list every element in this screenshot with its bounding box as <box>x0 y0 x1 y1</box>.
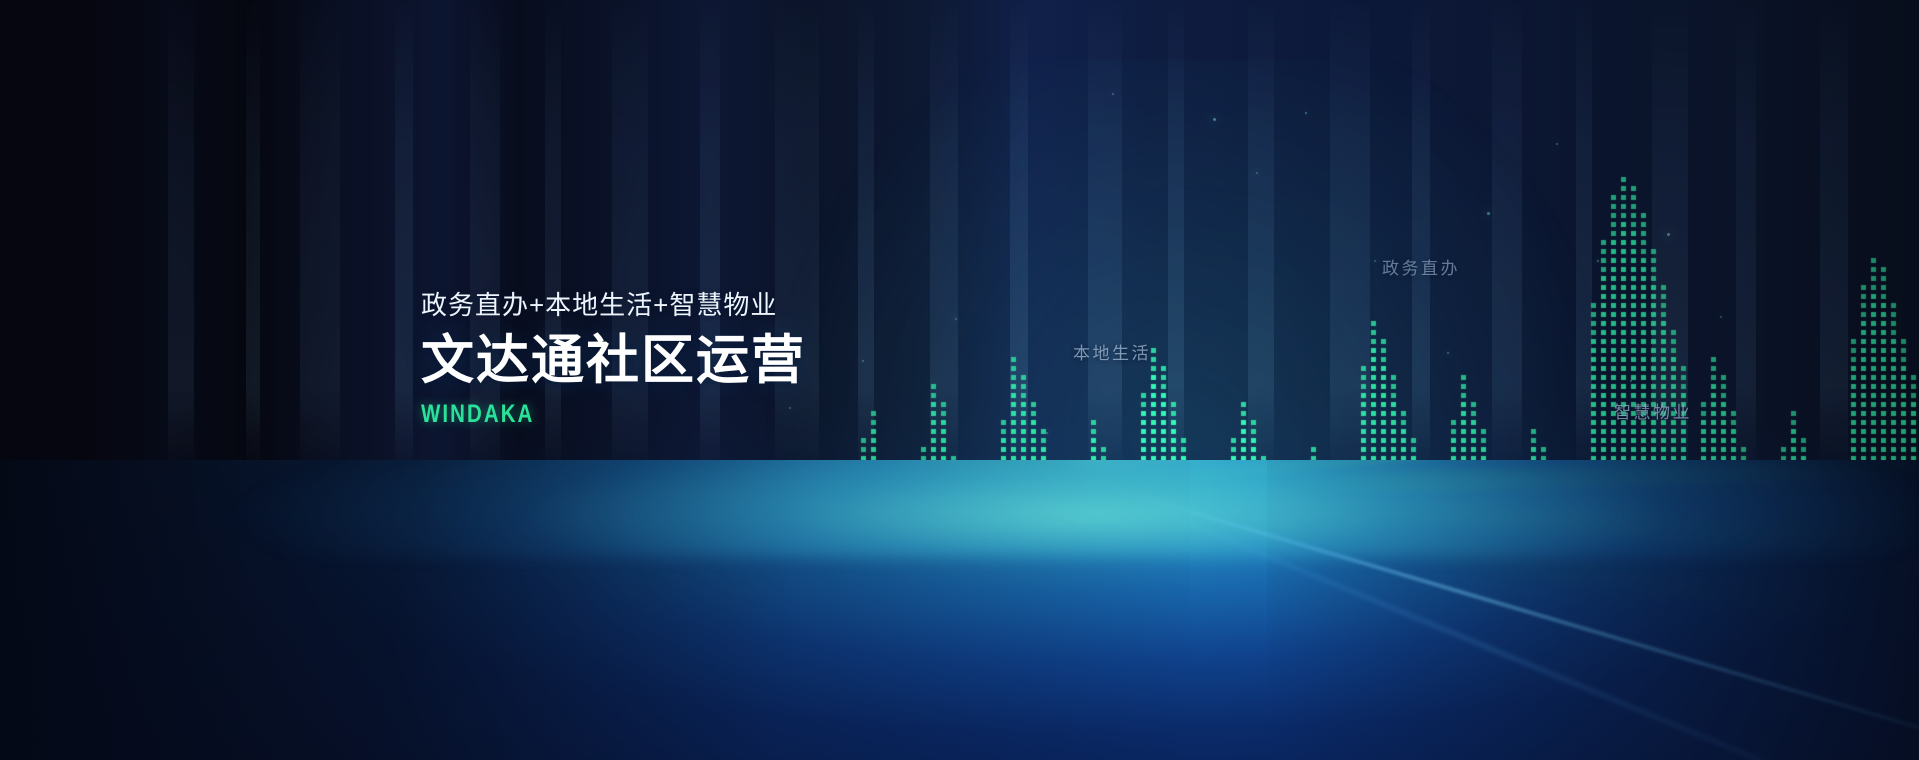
horizon-glow <box>0 460 1919 558</box>
floating-label-1: 政务直办 <box>1382 254 1460 279</box>
brand-wordmark: WINDAKA <box>421 400 737 429</box>
ground-plane <box>0 460 1919 760</box>
banner-headline: 文达通社区运营 <box>421 331 806 390</box>
floating-label-0: 本地生活 <box>1073 339 1151 364</box>
banner-subtitle: 政务直办+本地生活+智慧物业 <box>421 290 806 321</box>
promo-banner: 政务直办+本地生活+智慧物业 文达通社区运营 WINDAKA 本地生活政务直办智… <box>0 0 1919 760</box>
floating-label-2: 智慧物业 <box>1614 398 1692 423</box>
headline-block: 政务直办+本地生活+智慧物业 文达通社区运营 WINDAKA <box>421 290 806 429</box>
